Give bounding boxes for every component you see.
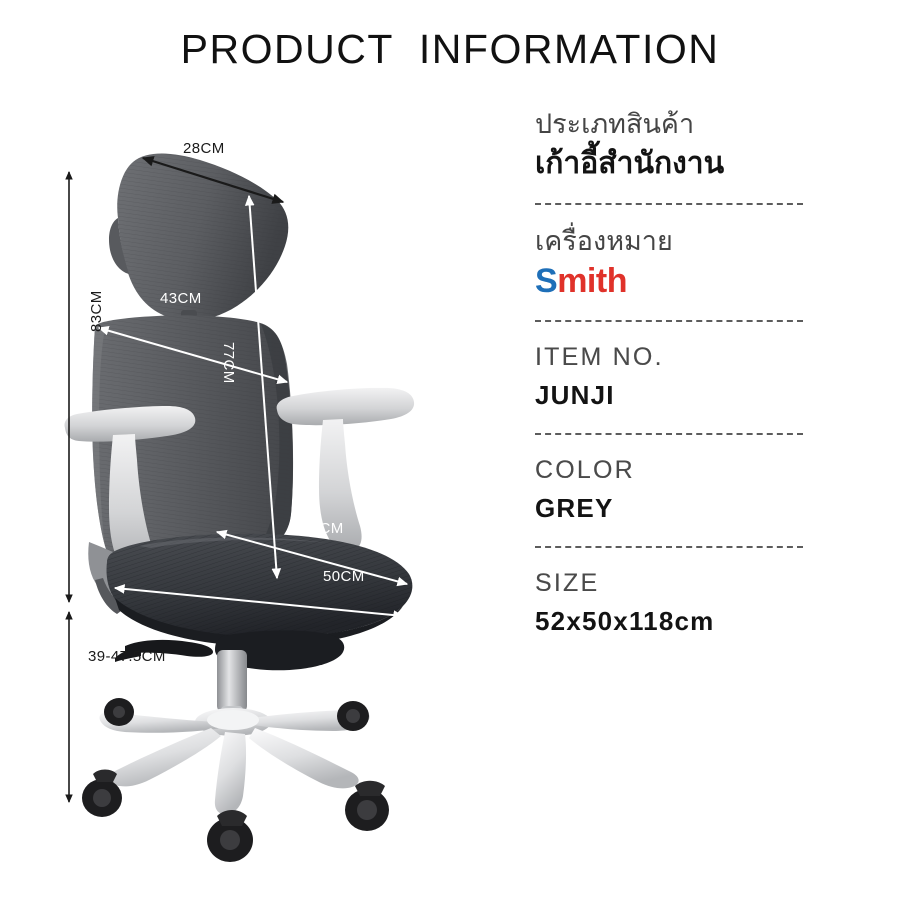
spec-item-no-label: ITEM NO. <box>535 342 865 373</box>
dimension-label-seat-height-range: 39-47.5CM <box>88 648 166 665</box>
dimension-label-seat-depth: 54CM <box>302 520 344 537</box>
spec-brand: เครื่องหมาย Smith <box>535 225 865 300</box>
chair-seat <box>107 534 413 646</box>
section-divider <box>535 546 803 548</box>
spec-product-type: ประเภทสินค้า เก้าอี้สำนักงาน <box>535 108 865 183</box>
dimension-label-headrest-width: 28CM <box>183 140 225 157</box>
product-information-page: PRODUCT INFORMATION <box>0 0 900 900</box>
product-figure: 28CM 43CM 77CM 83CM 54CM 50CM 39-47.5CM <box>55 110 515 870</box>
spec-size: SIZE 52x50x118cm <box>535 568 865 639</box>
spec-brand-label: เครื่องหมาย <box>535 225 865 259</box>
dimension-label-seat-width: 50CM <box>323 568 365 585</box>
spec-color-label: COLOR <box>535 455 865 486</box>
spec-item-no: ITEM NO. JUNJI <box>535 342 865 413</box>
page-title: PRODUCT INFORMATION <box>0 26 900 73</box>
dimension-label-back-height: 83CM <box>88 290 105 332</box>
spec-size-label: SIZE <box>535 568 865 599</box>
section-divider <box>535 433 803 435</box>
spec-color: COLOR GREY <box>535 455 865 526</box>
spec-item-no-value: JUNJI <box>535 379 865 413</box>
brand-logo-remainder: mith <box>557 262 627 300</box>
spec-color-value: GREY <box>535 492 865 526</box>
office-chair-illustration <box>55 110 515 870</box>
section-divider <box>535 203 803 205</box>
spec-size-value: 52x50x118cm <box>535 605 865 639</box>
section-divider <box>535 320 803 322</box>
brand-logo: Smith <box>535 263 865 300</box>
dimension-label-backrest-height: 77CM <box>220 342 237 384</box>
chair-base <box>99 708 369 814</box>
dimension-label-backrest-width: 43CM <box>160 290 202 307</box>
spec-product-type-label: ประเภทสินค้า <box>535 108 865 142</box>
brand-logo-initial: S <box>535 262 557 300</box>
spec-product-type-value: เก้าอี้สำนักงาน <box>535 144 865 183</box>
specification-panel: ประเภทสินค้า เก้าอี้สำนักงาน เครื่องหมาย… <box>535 108 865 639</box>
